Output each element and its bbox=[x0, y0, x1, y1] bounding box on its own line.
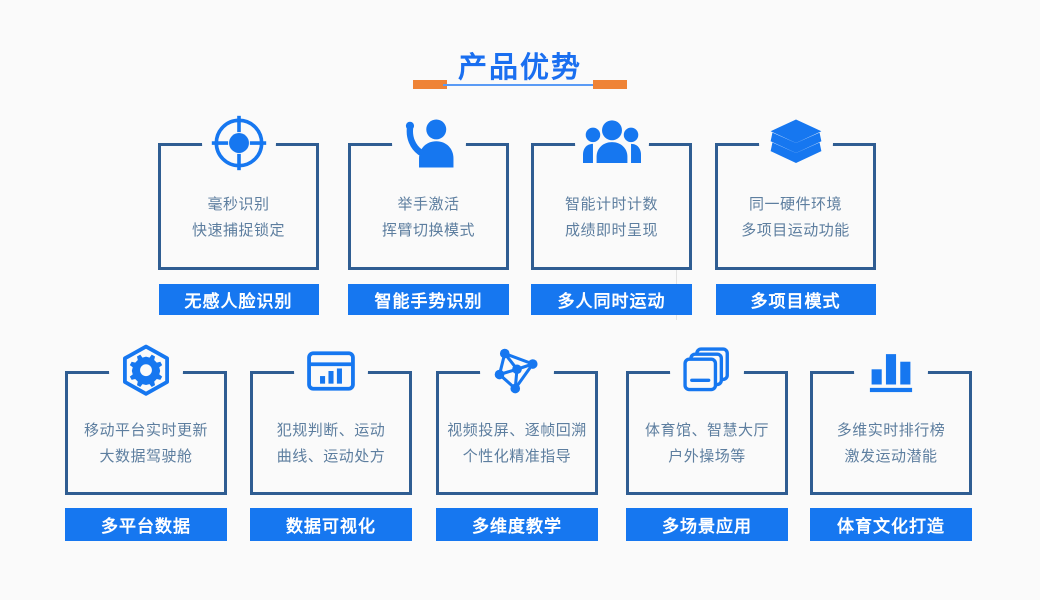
feature-card-description-line: 多项目运动功能 bbox=[718, 218, 873, 244]
window-bar-chart-icon bbox=[294, 334, 368, 408]
feature-card-description: 智能计时计数成绩即时呈现 bbox=[534, 192, 689, 244]
feature-card-description-line: 移动平台实时更新 bbox=[68, 418, 224, 444]
feature-card-description-line: 多维实时排行榜 bbox=[813, 418, 969, 444]
feature-card-description: 举手激活挥臂切换模式 bbox=[351, 192, 506, 244]
feature-card-description-line: 户外操场等 bbox=[629, 444, 785, 470]
rule-cap-right-icon bbox=[593, 80, 627, 89]
feature-card-description: 体育馆、智慧大厅户外操场等 bbox=[629, 418, 785, 470]
target-crosshair-icon bbox=[202, 106, 276, 180]
feature-card-description-line: 智能计时计数 bbox=[534, 192, 689, 218]
feature-badge[interactable]: 多人同时运动 bbox=[531, 284, 692, 315]
title-decorative-rule bbox=[413, 80, 627, 89]
feature-card-description-line: 视频投屏、逐帧回溯 bbox=[439, 418, 595, 444]
product-advantages-page: 产品优势 毫秒识别快速捕捉锁定 无感人脸识别举手激活挥臂切换模式 智能手势识别智… bbox=[0, 0, 1040, 600]
feature-card-description-line: 激发运动潜能 bbox=[813, 444, 969, 470]
feature-card-description-line: 个性化精准指导 bbox=[439, 444, 595, 470]
feature-badge[interactable]: 数据可视化 bbox=[250, 508, 412, 541]
feature-card-description: 多维实时排行榜激发运动潜能 bbox=[813, 418, 969, 470]
feature-card-description-line: 犯规判断、运动 bbox=[253, 418, 409, 444]
hexagon-gear-icon bbox=[109, 334, 183, 408]
network-nodes-icon bbox=[480, 334, 554, 408]
rule-line bbox=[443, 84, 597, 86]
feature-badge[interactable]: 智能手势识别 bbox=[348, 284, 509, 315]
feature-card-description-line: 毫秒识别 bbox=[161, 192, 316, 218]
feature-card-description-line: 同一硬件环境 bbox=[718, 192, 873, 218]
feature-card-description-line: 成绩即时呈现 bbox=[534, 218, 689, 244]
stacked-pages-icon bbox=[670, 334, 744, 408]
feature-card-description: 犯规判断、运动曲线、运动处方 bbox=[253, 418, 409, 470]
feature-card-description-line: 曲线、运动处方 bbox=[253, 444, 409, 470]
feature-badge[interactable]: 多场景应用 bbox=[626, 508, 788, 541]
people-group-icon bbox=[575, 106, 649, 180]
feature-badge[interactable]: 体育文化打造 bbox=[810, 508, 972, 541]
feature-badge[interactable]: 无感人脸识别 bbox=[159, 284, 319, 315]
rule-cap-left-icon bbox=[413, 80, 447, 89]
feature-card-description-line: 大数据驾驶舱 bbox=[68, 444, 224, 470]
bar-chart-ranking-icon bbox=[854, 334, 928, 408]
feature-badge[interactable]: 多维度教学 bbox=[436, 508, 598, 541]
feature-card-description-line: 挥臂切换模式 bbox=[351, 218, 506, 244]
feature-card-description: 视频投屏、逐帧回溯个性化精准指导 bbox=[439, 418, 595, 470]
feature-card-description-line: 体育馆、智慧大厅 bbox=[629, 418, 785, 444]
raised-hand-person-icon bbox=[392, 106, 466, 180]
feature-card-description: 毫秒识别快速捕捉锁定 bbox=[161, 192, 316, 244]
layers-stack-icon bbox=[759, 106, 833, 180]
feature-card-description: 移动平台实时更新大数据驾驶舱 bbox=[68, 418, 224, 470]
feature-card-description-line: 举手激活 bbox=[351, 192, 506, 218]
feature-badge[interactable]: 多项目模式 bbox=[716, 284, 876, 315]
feature-badge[interactable]: 多平台数据 bbox=[65, 508, 227, 541]
feature-card-description-line: 快速捕捉锁定 bbox=[161, 218, 316, 244]
feature-card-description: 同一硬件环境多项目运动功能 bbox=[718, 192, 873, 244]
